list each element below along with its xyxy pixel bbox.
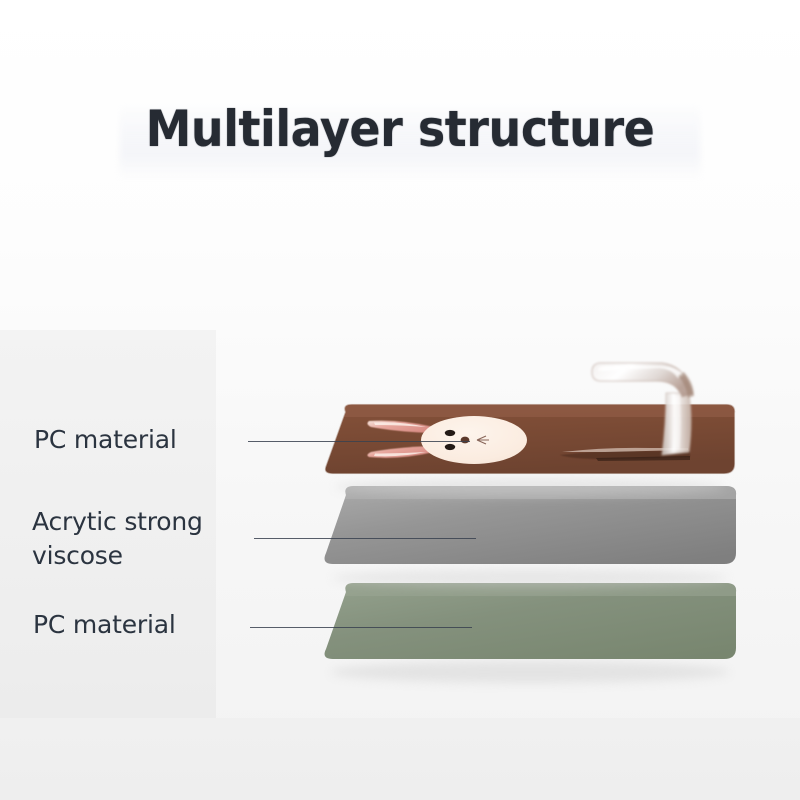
layer-bottom-surface <box>325 583 737 659</box>
hook-arm <box>592 363 693 397</box>
background-panel-bottom <box>0 718 800 800</box>
diagram-canvas: Multilayer structure <box>0 0 800 800</box>
hook-post-reflection <box>672 396 681 450</box>
layer-top-decoration <box>367 416 690 464</box>
rabbit-nose <box>461 437 470 444</box>
label-acrylic-strong-viscose: Acrytic strong viscose <box>32 505 203 573</box>
rabbit-eye-lower <box>445 444 455 450</box>
layer-bottom-top-highlight <box>345 583 736 596</box>
hook-post <box>662 393 691 455</box>
page-title-region: Multilayer structure <box>0 100 800 180</box>
layer-middle-acrylic-viscose <box>325 486 737 587</box>
layer-middle-surface <box>325 486 737 564</box>
page-title: Multilayer structure <box>32 100 768 158</box>
rabbit-ear-lower <box>367 446 435 458</box>
hook-shadow-edge <box>678 372 694 398</box>
rabbit-ear-upper-highlight <box>374 422 426 427</box>
label-pc-material-bottom: PC material <box>33 608 176 642</box>
layer-bottom-pc-material <box>325 583 737 683</box>
layer-top-pc-material <box>325 404 735 496</box>
hook-base-slot <box>560 448 690 461</box>
rabbit-whiskers <box>477 436 489 444</box>
layer-middle-top-highlight <box>345 486 736 499</box>
label-pc-material-top: PC material <box>34 423 177 457</box>
rabbit-face-shape <box>421 416 527 464</box>
layer-top-rim <box>325 404 735 474</box>
layer-top-edge-sheen <box>344 404 735 417</box>
rabbit-face-icon <box>367 416 527 464</box>
rabbit-eye-upper <box>445 430 455 436</box>
rabbit-ear-upper <box>367 421 435 433</box>
leader-line-pc-material-top <box>248 441 470 442</box>
leader-line-pc-material-bottom <box>250 627 472 628</box>
leader-line-acrylic-viscose <box>254 538 476 539</box>
layer-top-surface <box>325 404 735 474</box>
acrylic-hook-icon <box>592 363 694 455</box>
rabbit-ear-lower-highlight <box>374 452 426 456</box>
hook-highlight <box>598 366 684 378</box>
